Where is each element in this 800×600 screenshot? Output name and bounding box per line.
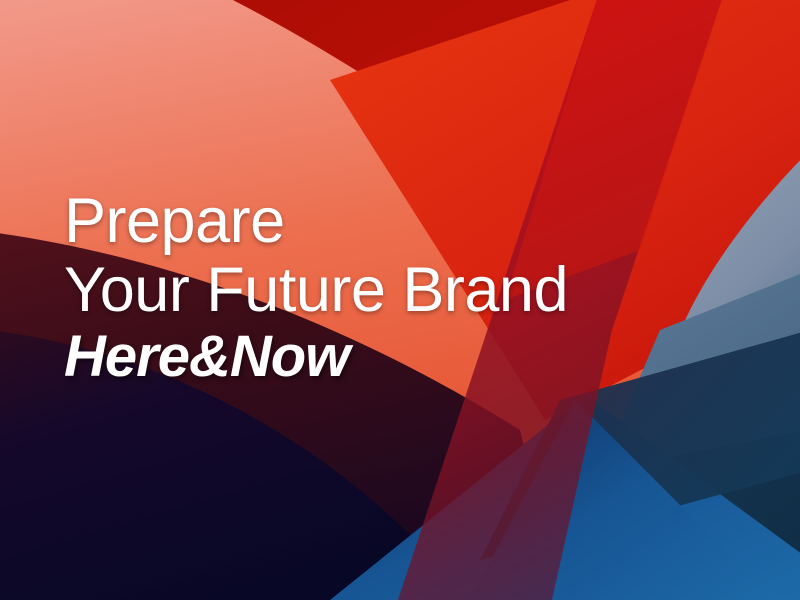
poster-canvas: Prepare Your Future Brand Here&Now [0,0,800,600]
headline-line-3: Here&Now [64,328,568,386]
headline-block: Prepare Your Future Brand Here&Now [64,190,568,386]
headline-line-1: Prepare [64,190,568,253]
headline-line-2: Your Future Brand [64,259,568,322]
